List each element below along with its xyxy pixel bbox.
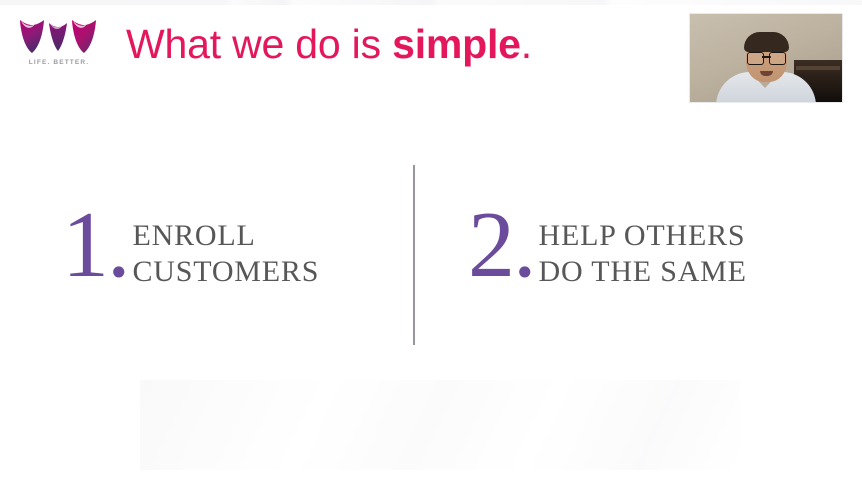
step-item-2: 2. HELP OTHERS DO THE SAME — [468, 198, 747, 292]
background-artifact — [140, 380, 740, 470]
slide-title: What we do is simple. — [126, 18, 532, 70]
presenter-video-feed[interactable] — [690, 14, 842, 102]
step-2-number: 2. — [468, 198, 535, 292]
step-2-line2: DO THE SAME — [539, 254, 747, 290]
presentation-slide: LIFE. BETTER. What we do is simple. 1. E… — [0, 0, 862, 485]
viv-logo: LIFE. BETTER. — [18, 18, 110, 74]
step-item-1: 1. ENROLL CUSTOMERS — [62, 198, 319, 292]
step-1-text: ENROLL CUSTOMERS — [133, 200, 320, 290]
presenter-glasses-icon — [747, 52, 786, 63]
slide-title-emphasis: simple — [392, 21, 521, 67]
step-1-line2: CUSTOMERS — [133, 254, 320, 290]
top-compression-band — [0, 0, 862, 5]
step-1-line1: ENROLL — [133, 219, 256, 252]
logo-tagline: LIFE. BETTER. — [18, 59, 100, 66]
slide-title-prefix: What we do is — [126, 21, 392, 67]
presenter-hair — [744, 32, 789, 52]
viv-wordmark-icon — [18, 18, 100, 56]
slide-title-suffix: . — [521, 21, 532, 67]
vertical-divider — [413, 165, 415, 345]
step-1-number: 1. — [62, 198, 129, 292]
step-2-text: HELP OTHERS DO THE SAME — [539, 200, 747, 290]
step-2-line1: HELP OTHERS — [539, 219, 746, 252]
